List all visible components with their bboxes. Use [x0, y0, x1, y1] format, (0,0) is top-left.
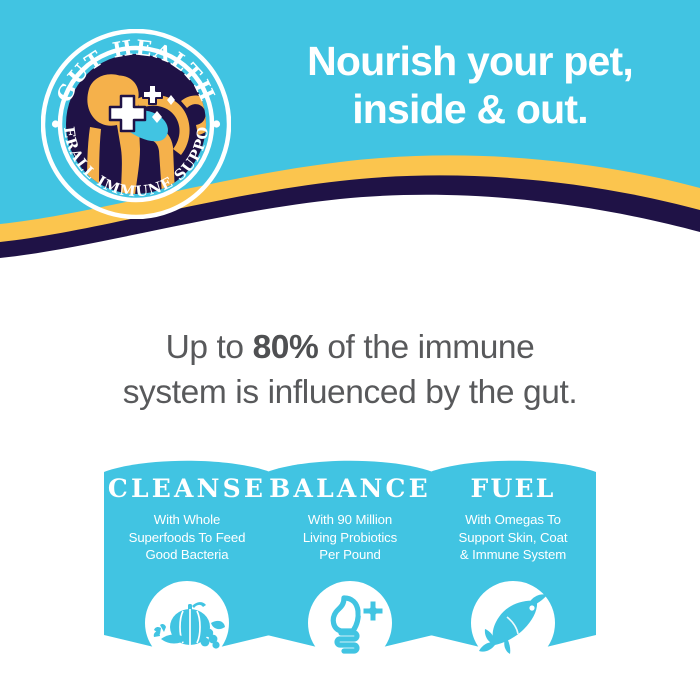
stomach-intestine-plus-icon	[308, 581, 392, 665]
card-sub-line-3: & Immune System	[434, 546, 592, 564]
card-sub-line-2: Living Probiotics	[271, 529, 429, 547]
fish-icon	[471, 581, 555, 665]
pumpkin-vegetables-icon	[145, 581, 229, 665]
stat-prefix: Up to	[166, 329, 253, 366]
hero-headline: Nourish your pet, inside & out.	[252, 38, 688, 134]
fish-eye-icon	[529, 605, 534, 610]
card-title-fuel: FUEL	[430, 476, 596, 501]
stat-statement: Up to 80% of the immune system is influe…	[60, 326, 640, 415]
stat-line-2: system is influenced by the gut.	[60, 371, 640, 416]
benefit-card-balance[interactable]: BALANCE With 90 Million Living Probiotic…	[267, 455, 433, 655]
card-subtitle-fuel: With Omegas To Support Skin, Coat & Immu…	[434, 511, 592, 564]
card-subtitle-balance: With 90 Million Living Probiotics Per Po…	[271, 511, 429, 564]
headline-line-1: Nourish your pet,	[307, 38, 633, 84]
card-sub-line-3: Good Bacteria	[108, 546, 266, 564]
benefit-card-fuel[interactable]: FUEL With Omegas To Support Skin, Coat &…	[430, 455, 596, 655]
card-title-balance: BALANCE	[267, 476, 433, 501]
seal-dot-right	[213, 120, 220, 127]
benefit-cards: CLEANSE With Whole Superfoods To Feed Go…	[0, 455, 700, 685]
card-sub-line-1: With Whole	[108, 511, 266, 529]
stat-line-1: Up to 80% of the immune	[60, 326, 640, 371]
card-title-cleanse: CLEANSE	[104, 476, 270, 501]
card-sub-line-2: Superfoods To Feed	[108, 529, 266, 547]
card-sub-line-2: Support Skin, Coat	[434, 529, 592, 547]
card-sub-line-1: With 90 Million	[271, 511, 429, 529]
headline-line-2: inside & out.	[252, 86, 688, 134]
hero-banner: GUT HEALTH OVERALL IMMUNE SUPPORT Nouris…	[0, 0, 700, 300]
card-sub-line-1: With Omegas To	[434, 511, 592, 529]
stat-suffix: of the immune	[318, 329, 534, 366]
seal-dot-left	[52, 120, 59, 127]
card-sub-line-3: Per Pound	[271, 546, 429, 564]
card-subtitle-cleanse: With Whole Superfoods To Feed Good Bacte…	[108, 511, 266, 564]
benefit-card-cleanse[interactable]: CLEANSE With Whole Superfoods To Feed Go…	[104, 455, 270, 655]
infographic-canvas: GUT HEALTH OVERALL IMMUNE SUPPORT Nouris…	[0, 0, 700, 700]
stat-percent: 80%	[253, 329, 319, 366]
gut-health-seal-icon: GUT HEALTH OVERALL IMMUNE SUPPORT	[41, 29, 231, 219]
